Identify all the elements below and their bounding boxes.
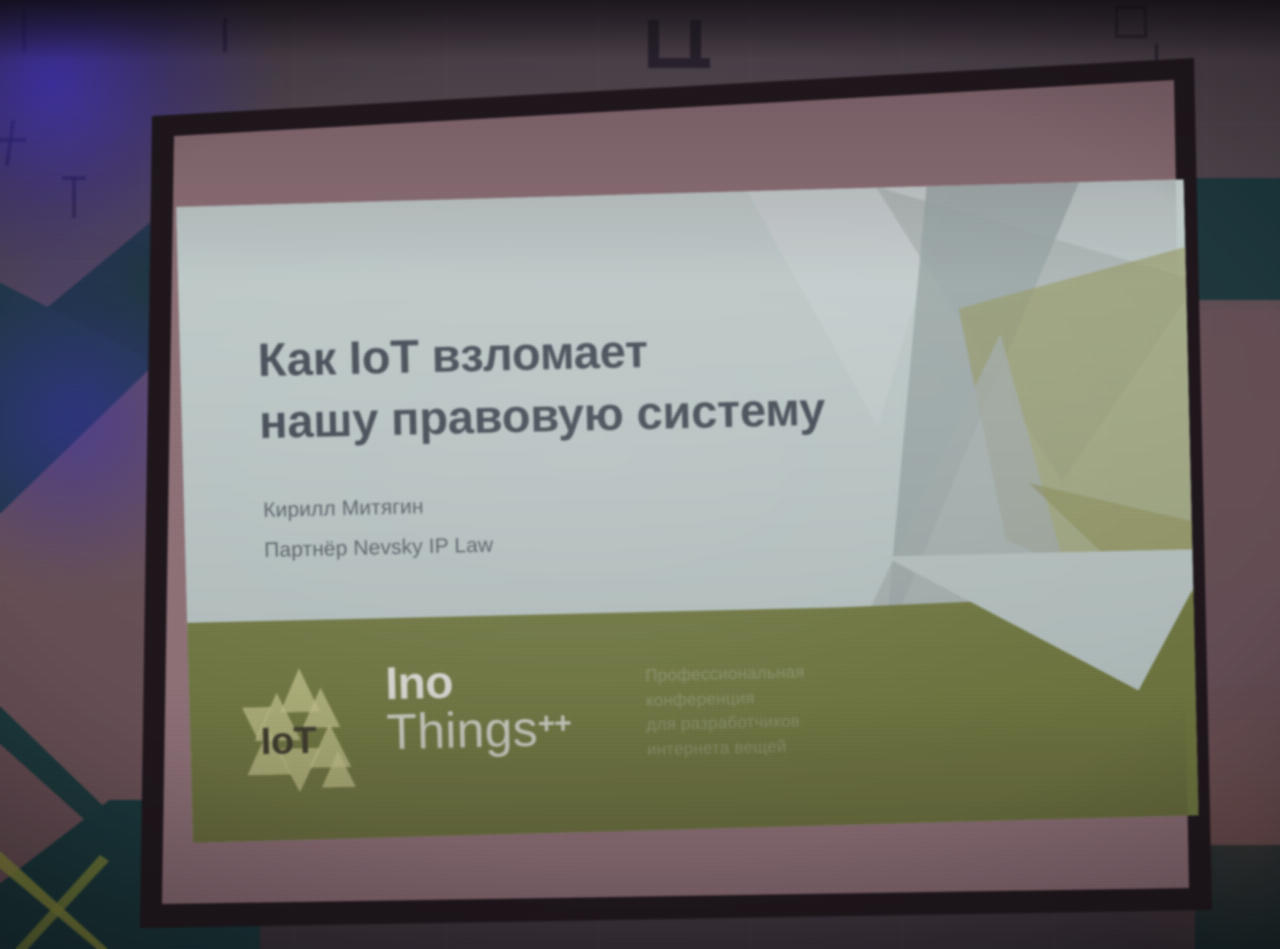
projection-screen: Как IoT взломает нашу правовую систему К… [132, 58, 1212, 928]
screen-shading [132, 58, 1212, 928]
photo-canvas: Как IoT взломает нашу правовую систему К… [0, 0, 1280, 949]
